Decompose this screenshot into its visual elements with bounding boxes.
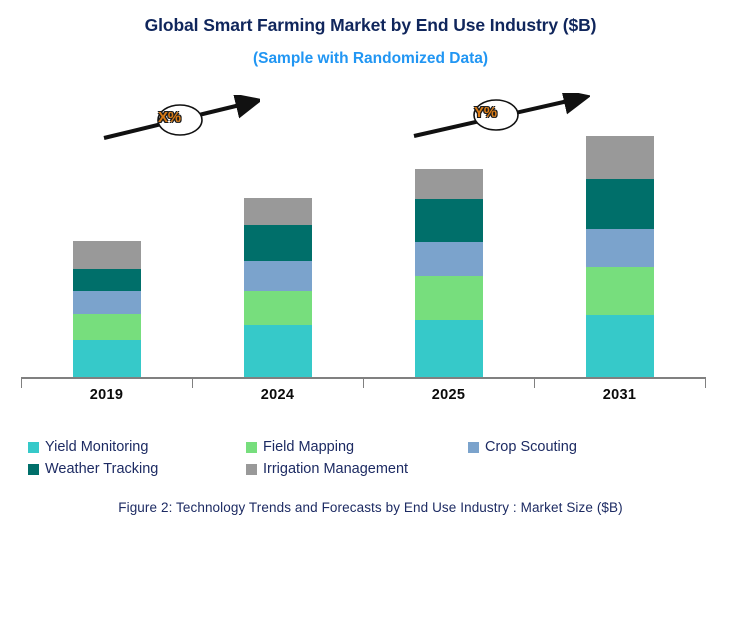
x-axis-label-2025: 2025 [363, 387, 534, 403]
bar-segment[interactable] [586, 136, 654, 178]
bar-segment[interactable] [586, 315, 654, 377]
bar-segment[interactable] [586, 229, 654, 267]
legend-item-label: Field Mapping [263, 438, 354, 456]
growth-annotation-y-label: Y% [474, 104, 497, 121]
bar-segment[interactable] [415, 169, 483, 199]
legend-item-weather-tracking[interactable]: Weather Tracking [28, 458, 158, 480]
legend-item-field-mapping[interactable]: Field Mapping [246, 436, 354, 458]
legend-item-yield-monitoring[interactable]: Yield Monitoring [28, 436, 148, 458]
bar-segment[interactable] [244, 261, 312, 290]
figure-caption: Figure 2: Technology Trends and Forecast… [0, 500, 741, 515]
bar-segment[interactable] [244, 325, 312, 377]
chart-figure: Global Smart Farming Market by End Use I… [0, 0, 741, 621]
legend-item-label: Weather Tracking [45, 460, 158, 478]
plot-area: X% Y% [21, 95, 705, 378]
x-axis-label-2031: 2031 [534, 387, 705, 403]
x-axis-tick [705, 377, 706, 388]
legend-item-irrigation-management[interactable]: Irrigation Management [246, 458, 408, 480]
x-axis-label-2019: 2019 [21, 387, 192, 403]
growth-arrow-y: Y% [410, 93, 590, 143]
bar-segment[interactable] [73, 269, 141, 291]
legend-row: Weather TrackingIrrigation Management [28, 458, 688, 480]
chart-subtitle: (Sample with Randomized Data) [0, 46, 741, 72]
growth-annotation-x-label: X% [158, 109, 181, 126]
bar-segment[interactable] [586, 267, 654, 315]
legend-swatch-icon [468, 442, 479, 453]
legend-item-label: Crop Scouting [485, 438, 577, 456]
legend-swatch-icon [28, 464, 39, 475]
x-axis-label-2024: 2024 [192, 387, 363, 403]
bar-segment[interactable] [415, 199, 483, 241]
legend-swatch-icon [246, 464, 257, 475]
title-block: Global Smart Farming Market by End Use I… [0, 12, 741, 72]
bar-segment[interactable] [244, 291, 312, 326]
page-title: Global Smart Farming Market by End Use I… [0, 12, 741, 38]
bar-segment[interactable] [73, 314, 141, 340]
stacked-bar[interactable] [586, 136, 654, 377]
growth-arrow-x: X% [100, 95, 260, 145]
bar-segment[interactable] [73, 291, 141, 315]
bar-segment[interactable] [586, 179, 654, 230]
legend-item-crop-scouting[interactable]: Crop Scouting [468, 436, 577, 458]
chart-legend: Yield MonitoringField MappingCrop Scouti… [28, 436, 688, 480]
stacked-bar[interactable] [244, 198, 312, 377]
bar-segment[interactable] [415, 242, 483, 277]
bar-segment[interactable] [73, 340, 141, 377]
legend-swatch-icon [28, 442, 39, 453]
stacked-bar[interactable] [73, 241, 141, 377]
bar-segment[interactable] [244, 225, 312, 262]
legend-item-label: Irrigation Management [263, 460, 408, 478]
stacked-bar[interactable] [415, 169, 483, 377]
bar-segment[interactable] [415, 320, 483, 377]
legend-row: Yield MonitoringField MappingCrop Scouti… [28, 436, 688, 458]
legend-swatch-icon [246, 442, 257, 453]
bar-segment[interactable] [244, 198, 312, 225]
x-axis-labels: 2019202420252031 [21, 387, 705, 411]
legend-item-label: Yield Monitoring [45, 438, 148, 456]
bar-segment[interactable] [415, 276, 483, 319]
bar-segment[interactable] [73, 241, 141, 269]
